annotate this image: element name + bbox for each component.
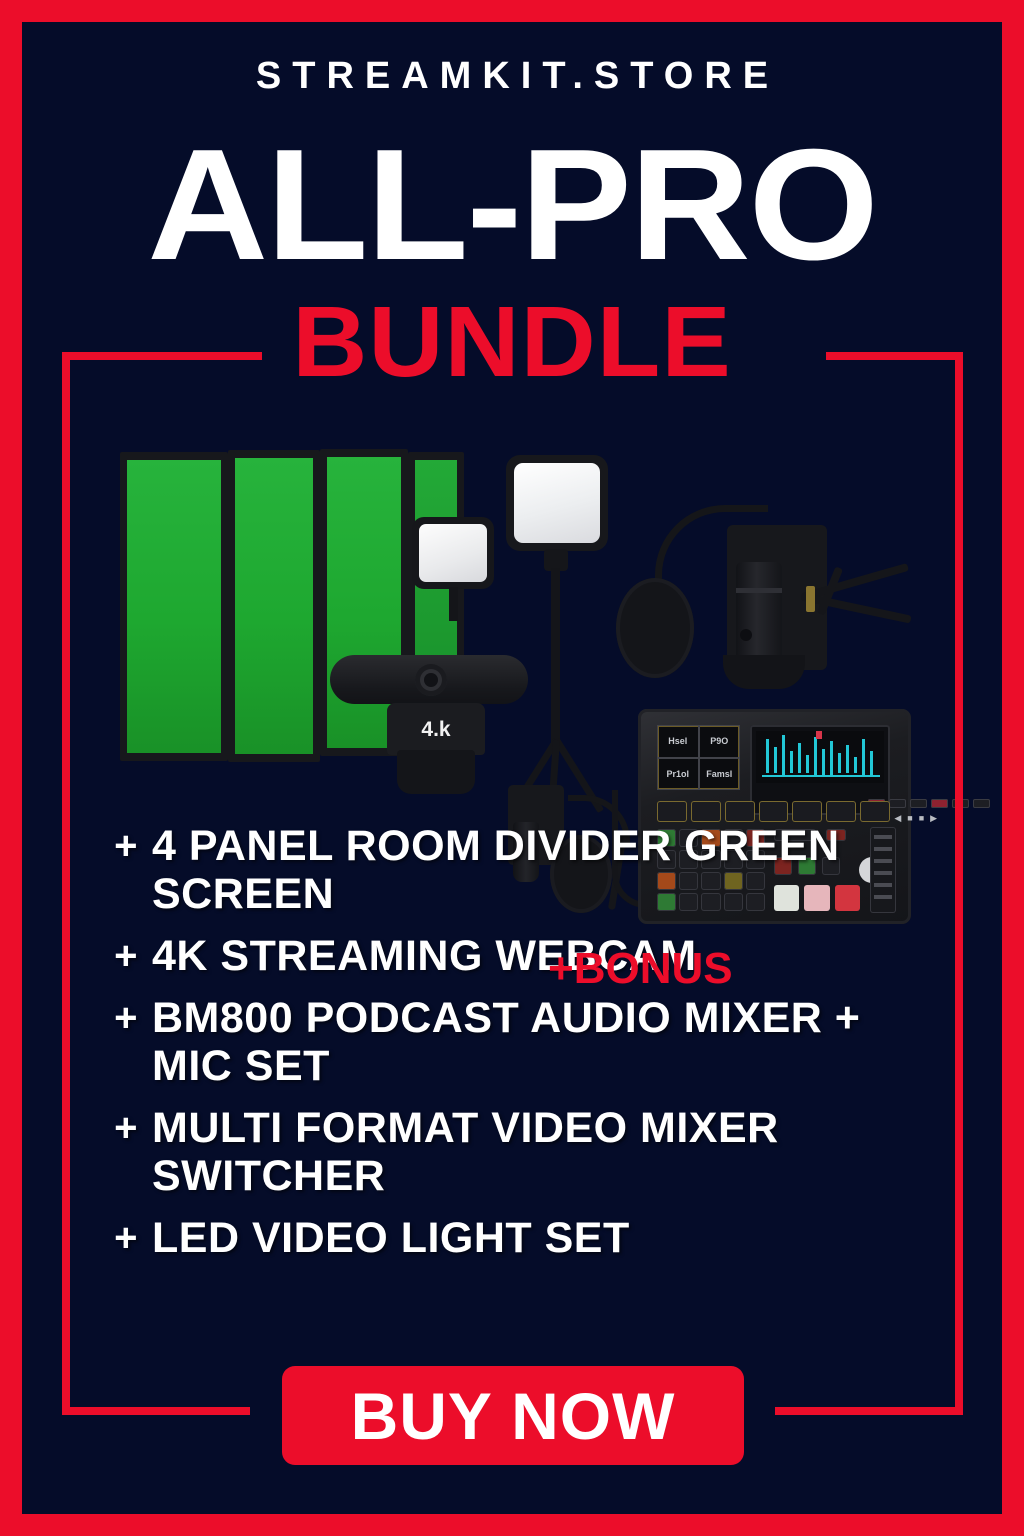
- plus-icon: +: [100, 822, 152, 870]
- plus-icon: +: [100, 994, 152, 1042]
- webcam-lens-icon: [415, 664, 447, 696]
- led-panel-light-small: [412, 517, 494, 589]
- plus-icon: +: [100, 1104, 152, 1152]
- list-item: + 4 PANEL ROOM DIVIDER GREEN SCREEN: [100, 822, 930, 918]
- mixer-function-button-strip: [657, 801, 890, 822]
- list-item-label: BM800 PODCAST AUDIO MIXER + MIC SET: [152, 994, 930, 1090]
- mixer-quad-label-4: Famsl: [699, 758, 741, 791]
- list-item-label: MULTI FORMAT VIDEO MIXER SWITCHER: [152, 1104, 930, 1200]
- list-item: + 4K STREAMING WEBCAM: [100, 932, 930, 980]
- list-item: + MULTI FORMAT VIDEO MIXER SWITCHER: [100, 1104, 930, 1200]
- webcam-foot: [397, 750, 475, 794]
- pop-filter-disc: [616, 578, 694, 678]
- frame-bottom-right-segment: [775, 1407, 963, 1415]
- plus-icon: +: [100, 1214, 152, 1262]
- mixer-quad-label-1: Hsel: [657, 725, 699, 758]
- mixer-quad-preview: Hsel P9O Pr1ol Famsl: [657, 725, 740, 790]
- list-item-label: 4K STREAMING WEBCAM: [152, 932, 930, 980]
- list-item: + BM800 PODCAST AUDIO MIXER + MIC SET: [100, 994, 930, 1090]
- plus-icon: +: [100, 932, 152, 980]
- webcam-4k-badge: 4.k: [387, 718, 485, 742]
- promo-poster: STREAMKIT.STORE ALL-PRO BUNDLE 4.k: [0, 0, 1024, 1536]
- microphone-knob: [740, 629, 752, 641]
- page-subtitle: BUNDLE: [0, 292, 1024, 392]
- boom-arm-clip: [806, 586, 815, 612]
- list-item-label: 4 PANEL ROOM DIVIDER GREEN SCREEN: [152, 822, 930, 918]
- mixer-waveform-display: [756, 731, 884, 783]
- microphone-shock-mount: [723, 655, 805, 689]
- frame-left-segment: [62, 352, 70, 1415]
- buy-now-button[interactable]: BUY NOW: [282, 1366, 744, 1465]
- mixer-quad-label-2: P9O: [699, 725, 741, 758]
- frame-bottom-left-segment: [62, 1407, 250, 1415]
- frame-right-segment: [955, 352, 963, 1415]
- microphone-ring: [736, 588, 782, 593]
- product-collage: 4.k Hsel P9O Pr1ol Famsl: [0, 0, 1024, 1536]
- bonus-badge: +BONUS: [548, 944, 733, 994]
- light-stand-pole: [551, 568, 560, 746]
- green-screen-panel-1: [120, 452, 228, 761]
- list-item-label: LED VIDEO LIGHT SET: [152, 1214, 930, 1262]
- bundle-items-list: + 4 PANEL ROOM DIVIDER GREEN SCREEN + 4K…: [100, 822, 930, 1276]
- list-item: + LED VIDEO LIGHT SET: [100, 1214, 930, 1262]
- mixer-quad-label-3: Pr1ol: [657, 758, 699, 791]
- green-screen-panel-2: [228, 450, 320, 762]
- led-panel-light-large: [506, 455, 608, 551]
